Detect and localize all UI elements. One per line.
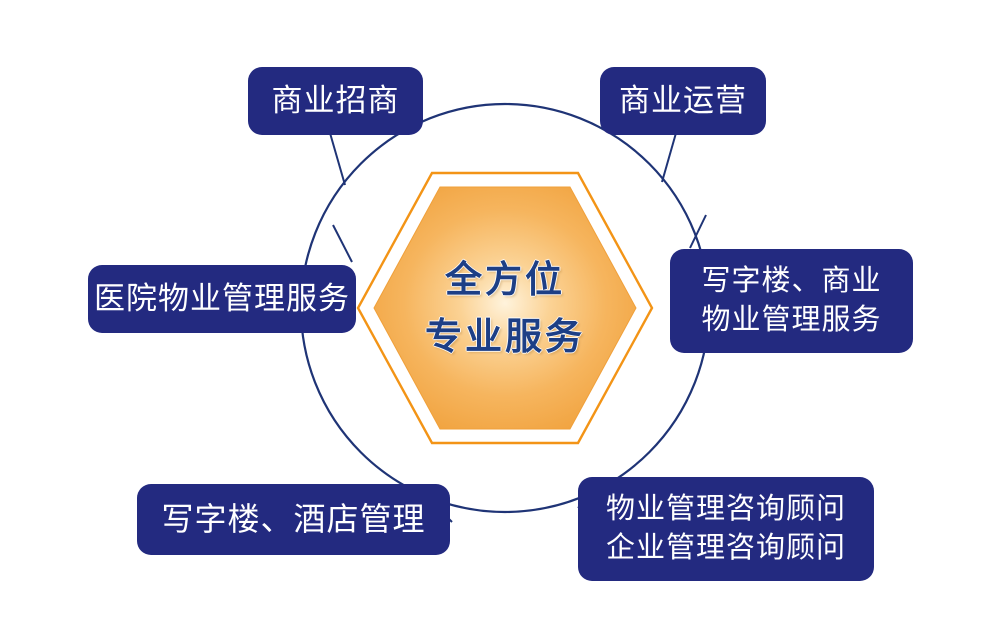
hexagon-core <box>374 187 636 429</box>
node-label-line: 写字楼、商业 <box>701 262 881 301</box>
node-label-line: 商业运营 <box>619 80 747 122</box>
node-zixun-guwen[interactable]: 物业管理咨询顾问 企业管理咨询顾问 <box>578 477 874 581</box>
node-yiyuan-wuye[interactable]: 医院物业管理服务 <box>88 265 356 333</box>
node-xiezilou-jiudian[interactable]: 写字楼、酒店管理 <box>137 484 450 555</box>
node-shangye-zhaoshang[interactable]: 商业招商 <box>248 67 423 135</box>
node-label-line: 商业招商 <box>272 80 400 122</box>
node-label-line: 物业管理服务 <box>701 301 881 340</box>
node-label-line: 写字楼、酒店管理 <box>161 498 425 541</box>
node-label-line: 物业管理咨询顾问 <box>606 490 846 529</box>
node-xiezilou-shangye[interactable]: 写字楼、商业 物业管理服务 <box>670 249 913 353</box>
node-label-line: 医院物业管理服务 <box>94 278 350 320</box>
connector-left <box>333 225 352 262</box>
connector-top-left <box>330 133 345 185</box>
node-shangye-yunying[interactable]: 商业运营 <box>600 67 766 135</box>
connector-top-right <box>662 133 676 182</box>
diagram-canvas: 全方位 专业服务 商业招商 商业运营 医院物业管理服务 写字楼、商业 物业管理服… <box>0 0 1000 638</box>
node-label-line: 企业管理咨询顾问 <box>606 529 846 568</box>
